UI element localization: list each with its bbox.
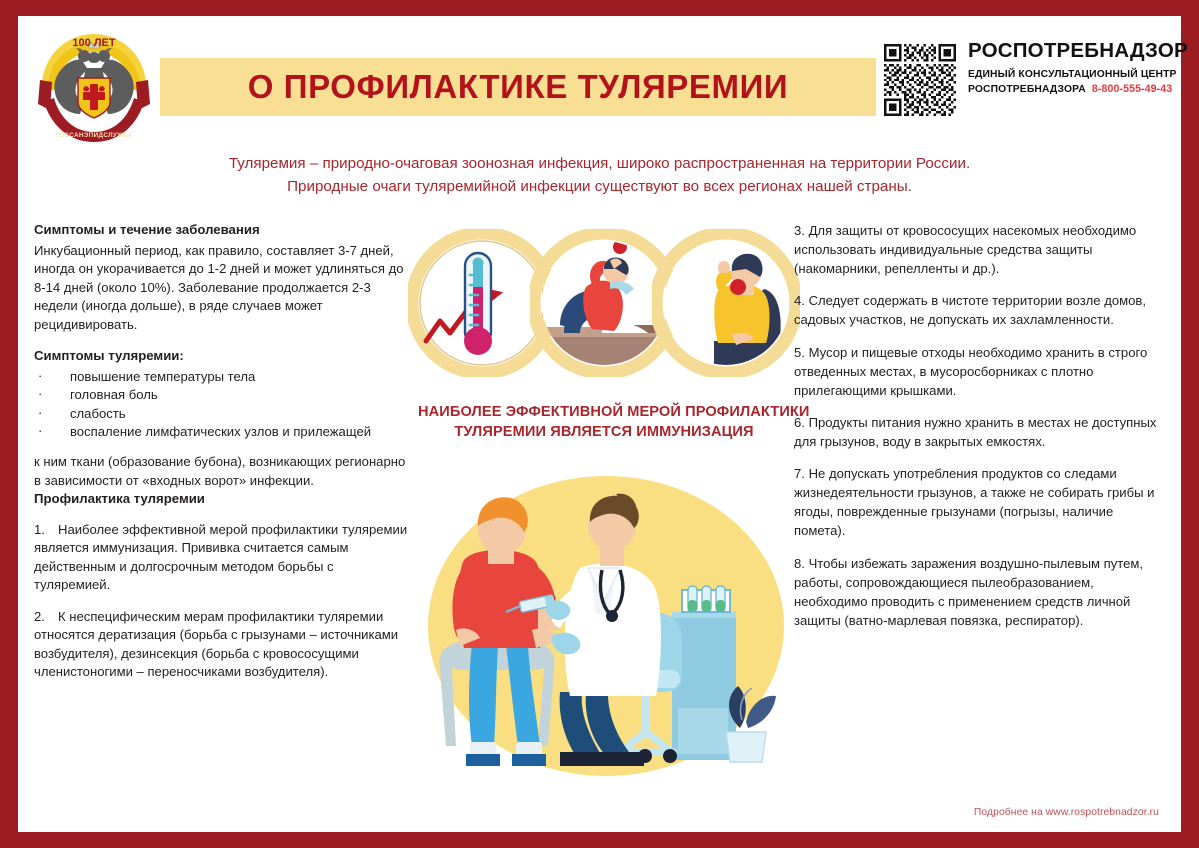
left-column: Симптомы и течение заболевания Инкубацио… — [34, 221, 412, 695]
brand-subtitle: ЕДИНЫЙ КОНСУЛЬТАЦИОННЫЙ ЦЕНТР РОСПОТРЕБН… — [968, 68, 1164, 99]
prophylaxis-item-1: 1.Наиболее эффективной мерой профилактик… — [34, 521, 412, 595]
right-column: 3. Для защиты от кровососущих насекомых … — [794, 221, 1166, 643]
brand-block: РОСПОТРЕБНАДЗОР ЕДИНЫЙ КОНСУЛЬТАЦИОННЫЙ … — [884, 40, 1164, 140]
section-title-symptoms-course: Симптомы и течение заболевания — [34, 221, 412, 240]
section-title-symptoms-list: Симптомы туляремии: — [34, 347, 412, 366]
item-number: 3. — [794, 223, 805, 238]
lymph-node-swelling-icon — [652, 229, 800, 377]
list-item: ·слабость — [34, 405, 412, 424]
prophylaxis-item-2: 2.К неспецифическим мерам профилактики т… — [34, 608, 412, 682]
item-text: Не допускать употребления продуктов со с… — [794, 466, 1154, 538]
intro-line-2: Природные очаги туляремийной инфекции су… — [78, 175, 1121, 198]
item-text: Следует содержать в чистоте территории в… — [794, 293, 1146, 327]
symptoms-course-body: Инкубационный период, как правило, соста… — [34, 242, 412, 335]
emblem-top-text: 100 ЛЕТ — [72, 37, 115, 49]
item-number: 5. — [794, 345, 805, 360]
center-headline-line2: ТУЛЯРЕМИИ ЯВЛЯЕТСЯ ИММУНИЗАЦИЯ — [418, 423, 790, 443]
poster-title-band: О ПРОФИЛАКТИКЕ ТУЛЯРЕМИИ — [160, 58, 876, 116]
emblem-rospotrebnadzor-icon: 100 ЛЕТ ГОССАНЭПИДСЛУЖБА — [36, 24, 152, 146]
bullet-dot-icon: · — [38, 367, 42, 385]
bullet-dot-icon: · — [38, 385, 42, 403]
section-title-prophylaxis: Профилактика туляремии — [34, 490, 412, 509]
poster-header: 100 ЛЕТ ГОССАНЭПИДСЛУЖБА О ПРОФИЛАКТИКЕ … — [18, 16, 1181, 148]
item-number: 4. — [794, 293, 805, 308]
item-text: Наиболее эффективной мерой профилактики … — [34, 522, 407, 593]
item-text: Для защиты от кровососущих насекомых нео… — [794, 223, 1136, 276]
prophylaxis-item-8: 8. Чтобы избежать заражения воздушно-пыл… — [794, 554, 1166, 630]
list-item: ·головная боль — [34, 386, 412, 405]
bullet-dot-icon: · — [38, 422, 42, 440]
prophylaxis-item-4: 4. Следует содержать в чистоте территори… — [794, 291, 1166, 329]
item-number: 6. — [794, 415, 805, 430]
brand-text-block: РОСПОТРЕБНАДЗОР ЕДИНЫЙ КОНСУЛЬТАЦИОННЫЙ … — [968, 40, 1164, 98]
center-headline: НАИБОЛЕЕ ЭФФЕКТИВНОЙ МЕРОЙ ПРОФИЛАКТИКИ … — [418, 403, 790, 442]
bullet-dot-icon: · — [38, 404, 42, 422]
brand-name: РОСПОТРЕБНАДЗОР — [968, 40, 1164, 62]
item-number: 2. — [34, 608, 58, 627]
brand-subtitle-line1: ЕДИНЫЙ КОНСУЛЬТАЦИОННЫЙ ЦЕНТР — [968, 68, 1164, 83]
symptom-label: повышение температуры тела — [70, 369, 255, 384]
list-item: ·повышение температуры тела — [34, 368, 412, 387]
item-text: Мусор и пищевые отходы необходимо хранит… — [794, 345, 1147, 398]
intro-text: Туляремия – природно-очаговая зоонозная … — [78, 152, 1121, 198]
intro-line-1: Туляремия – природно-очаговая зоонозная … — [78, 152, 1121, 175]
footer-link[interactable]: Подробнее на www.rospotrebnadzor.ru — [974, 807, 1159, 818]
item-text: К неспецифическим мерам профилактики тул… — [34, 609, 398, 680]
qr-code-icon — [884, 44, 956, 116]
prophylaxis-item-3: 3. Для защиты от кровососущих насекомых … — [794, 221, 1166, 278]
center-headline-line1: НАИБОЛЕЕ ЭФФЕКТИВНОЙ МЕРОЙ ПРОФИЛАКТИКИ — [418, 403, 790, 423]
symptom-label: головная боль — [70, 387, 158, 402]
prophylaxis-item-7: 7. Не допускать употребления продуктов с… — [794, 464, 1166, 540]
item-number: 1. — [34, 521, 58, 540]
symptom-label: слабость — [70, 406, 126, 421]
symptom-icon-row — [414, 229, 794, 377]
page-title: О ПРОФИЛАКТИКЕ ТУЛЯРЕМИИ — [248, 68, 788, 106]
hotline-phone: 8-800-555-49-43 — [1092, 82, 1172, 97]
item-number: 8. — [794, 556, 805, 571]
prophylaxis-item-5: 5. Мусор и пищевые отходы необходимо хра… — [794, 343, 1166, 400]
prophylaxis-item-6: 6. Продукты питания нужно хранить в мест… — [794, 413, 1166, 451]
poster-inner: 100 ЛЕТ ГОССАНЭПИДСЛУЖБА О ПРОФИЛАКТИКЕ … — [18, 16, 1181, 832]
symptoms-list: ·повышение температуры тела ·головная бо… — [34, 368, 412, 442]
emblem-ribbon-text: ГОССАНЭПИДСЛУЖБА — [55, 132, 133, 139]
doctor-vaccinating-patient-illustration — [420, 464, 792, 804]
item-text: Продукты питания нужно хранить в местах … — [794, 415, 1156, 449]
item-text: Чтобы избежать заражения воздушно-пылевы… — [794, 556, 1143, 628]
poster-frame: 100 ЛЕТ ГОССАНЭПИДСЛУЖБА О ПРОФИЛАКТИКЕ … — [0, 0, 1199, 848]
symptom-label: воспаление лимфатических узлов и прилежа… — [70, 424, 371, 439]
list-item: ·воспаление лимфатических узлов и прилеж… — [34, 423, 412, 442]
symptoms-continuation: к ним ткани (образование бубона), возник… — [34, 453, 412, 490]
item-number: 7. — [794, 466, 805, 481]
brand-subtitle-line2: РОСПОТРЕБНАДЗОРА — [968, 83, 1086, 98]
